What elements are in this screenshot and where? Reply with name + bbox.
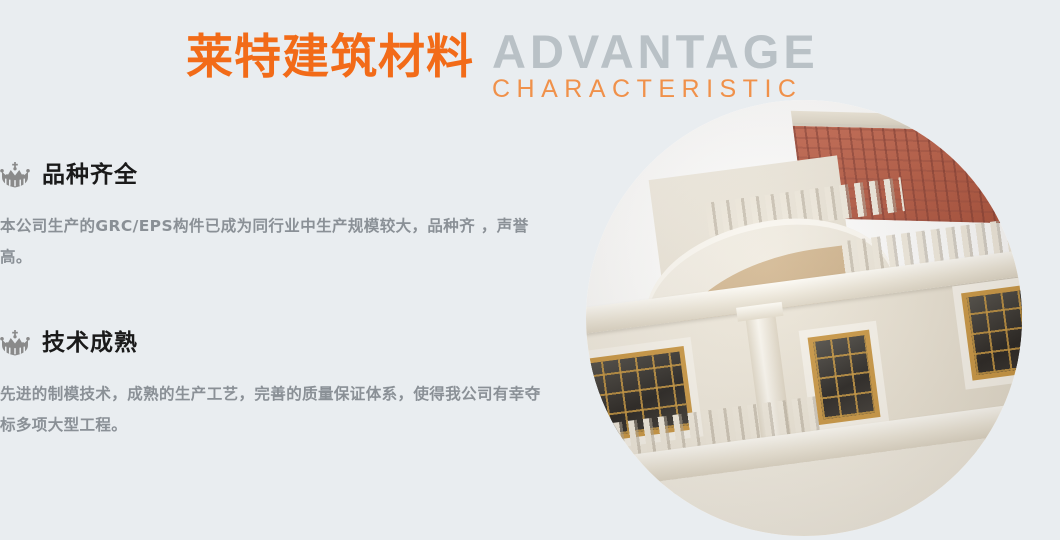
- crown-icon: [0, 330, 30, 357]
- advantage-banner: ADVANTAGE CHARACTERISTIC 莱特建筑材料: [0, 0, 1060, 540]
- feature-block-variety: 品种齐全 本公司生产的GRC/EPS构件已成为同行业中生产规模较大，品种齐 ，声…: [0, 162, 560, 273]
- building-photo-circle: [586, 100, 1022, 536]
- feature-heading: 技术成熟: [0, 330, 560, 357]
- crown-icon: [0, 162, 30, 189]
- headline-english-group: ADVANTAGE CHARACTERISTIC: [492, 28, 912, 102]
- headline-characteristic: CHARACTERISTIC: [492, 77, 912, 102]
- feature-title: 品种齐全: [42, 164, 138, 187]
- building-photo-artwork: [586, 100, 1022, 536]
- window-panes: [813, 335, 875, 419]
- feature-block-technology: 技术成熟 先进的制模技术，成熟的生产工艺，完善的质量保证体系，使得我公司有幸夺标…: [0, 330, 560, 441]
- building-facade: [586, 100, 1022, 536]
- headline-title-cn: 莱特建筑材料: [186, 34, 474, 81]
- window-upper-middle: [813, 335, 875, 419]
- feature-body: 本公司生产的GRC/EPS构件已成为同行业中生产规模较大，品种齐 ，声誉高。: [0, 211, 550, 273]
- window-upper-right: [967, 285, 1022, 375]
- feature-body: 先进的制模技术，成熟的生产工艺，完善的质量保证体系，使得我公司有幸夺标多项大型工…: [0, 379, 550, 441]
- feature-heading: 品种齐全: [0, 162, 560, 189]
- window-panes: [967, 285, 1022, 375]
- headline-advantage: ADVANTAGE: [492, 28, 912, 75]
- headline-chinese-group: 莱特建筑材料: [186, 34, 474, 81]
- feature-title: 技术成熟: [42, 332, 138, 355]
